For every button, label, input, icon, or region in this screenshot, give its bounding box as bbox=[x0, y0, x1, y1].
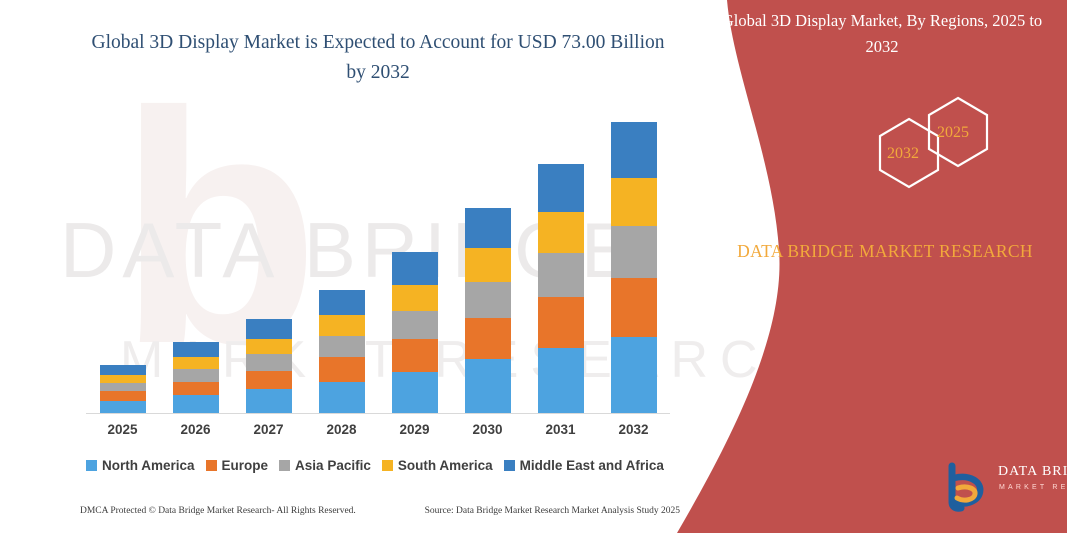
bar-group bbox=[319, 290, 365, 413]
bar-group bbox=[465, 208, 511, 413]
legend-item: South America bbox=[382, 458, 493, 473]
bar-group bbox=[100, 365, 146, 413]
bar-segment bbox=[319, 290, 365, 315]
dbmr-logo-name: DATA BRIDGE bbox=[998, 464, 1067, 480]
x-axis-tick-label: 2027 bbox=[234, 422, 304, 437]
legend-swatch-icon bbox=[206, 460, 217, 471]
bar-segment bbox=[465, 208, 511, 248]
bar-segment bbox=[611, 122, 657, 178]
legend-item: Europe bbox=[206, 458, 269, 473]
bar-segment bbox=[173, 382, 219, 396]
bar-segment bbox=[246, 319, 292, 339]
x-axis-labels: 20252026202720282029203020312032 bbox=[86, 422, 670, 446]
x-axis-tick-label: 2031 bbox=[526, 422, 596, 437]
bar-segment bbox=[319, 315, 365, 336]
chart-area: Global 3D Display Market is Expected to … bbox=[0, 0, 730, 533]
legend-label: Middle East and Africa bbox=[520, 458, 664, 473]
dbmr-logo-sub: MARKET RESEARCH bbox=[999, 484, 1067, 491]
bar-segment bbox=[246, 389, 292, 413]
legend-label: Asia Pacific bbox=[295, 458, 371, 473]
panel-title: Global 3D Display Market, By Regions, 20… bbox=[717, 8, 1047, 60]
bar-segment bbox=[392, 252, 438, 284]
bar-segment bbox=[538, 348, 584, 413]
footer: DMCA Protected © Data Bridge Market Rese… bbox=[80, 506, 680, 516]
legend-label: Europe bbox=[222, 458, 269, 473]
bar-segment bbox=[611, 226, 657, 278]
legend-swatch-icon bbox=[86, 460, 97, 471]
dbmr-logo: DATA BRIDGE MARKET RESEARCH bbox=[942, 462, 1067, 514]
bar-segment bbox=[611, 337, 657, 413]
bar-group bbox=[173, 342, 219, 413]
bar-segment bbox=[392, 311, 438, 339]
bar-segment bbox=[100, 383, 146, 392]
panel-brand-text: DATA BRIDGE MARKET RESEARCH bbox=[735, 237, 1035, 265]
bar-segment bbox=[319, 382, 365, 413]
legend-swatch-icon bbox=[382, 460, 393, 471]
bar-segment bbox=[319, 357, 365, 382]
chart-plot bbox=[86, 110, 670, 414]
bar-segment bbox=[465, 318, 511, 359]
bar-segment bbox=[173, 342, 219, 357]
bar-segment bbox=[538, 164, 584, 212]
bar-segment bbox=[538, 297, 584, 348]
legend-item: Asia Pacific bbox=[279, 458, 371, 473]
legend-swatch-icon bbox=[504, 460, 515, 471]
chart-legend: North AmericaEuropeAsia PacificSouth Ame… bbox=[86, 454, 686, 476]
bar-segment bbox=[100, 375, 146, 383]
x-axis-tick-label: 2028 bbox=[307, 422, 377, 437]
dbmr-logo-icon bbox=[942, 462, 992, 512]
bar-segment bbox=[392, 339, 438, 371]
bar-segment bbox=[611, 278, 657, 337]
footer-left: DMCA Protected © Data Bridge Market Rese… bbox=[80, 506, 356, 516]
bar-segment bbox=[538, 212, 584, 253]
legend-label: North America bbox=[102, 458, 195, 473]
bar-segment bbox=[100, 391, 146, 401]
bar-segment bbox=[173, 357, 219, 369]
hexagon-label-2025: 2025 bbox=[937, 124, 969, 142]
bar-segment bbox=[611, 178, 657, 226]
bar-segment bbox=[173, 369, 219, 382]
bar-segment bbox=[246, 354, 292, 371]
x-axis-tick-label: 2026 bbox=[161, 422, 231, 437]
x-axis-tick-label: 2025 bbox=[88, 422, 158, 437]
legend-item: North America bbox=[86, 458, 195, 473]
bar-group bbox=[246, 319, 292, 413]
bar-segment bbox=[465, 248, 511, 281]
bar-group bbox=[392, 252, 438, 413]
bar-segment bbox=[173, 395, 219, 413]
bar-segment bbox=[392, 285, 438, 311]
legend-label: South America bbox=[398, 458, 493, 473]
bar-segment bbox=[246, 339, 292, 355]
bar-segment bbox=[100, 401, 146, 413]
bar-segment bbox=[392, 372, 438, 413]
bar-segment bbox=[100, 365, 146, 375]
bar-segment bbox=[538, 253, 584, 297]
bar-group bbox=[611, 122, 657, 413]
legend-swatch-icon bbox=[279, 460, 290, 471]
x-axis-tick-label: 2030 bbox=[453, 422, 523, 437]
bar-segment bbox=[465, 282, 511, 318]
footer-right: Source: Data Bridge Market Research Mark… bbox=[425, 506, 680, 516]
hexagon-group: 2032 2025 bbox=[759, 95, 1059, 215]
bar-segment bbox=[465, 359, 511, 413]
bar-segment bbox=[319, 336, 365, 358]
bar-segment bbox=[246, 371, 292, 390]
x-axis-line bbox=[86, 413, 670, 414]
x-axis-tick-label: 2032 bbox=[599, 422, 669, 437]
chart-title: Global 3D Display Market is Expected to … bbox=[80, 28, 676, 88]
bar-group bbox=[538, 164, 584, 413]
legend-item: Middle East and Africa bbox=[504, 458, 664, 473]
x-axis-tick-label: 2029 bbox=[380, 422, 450, 437]
infographic-page: b DATA BRIDGE MARKET RESEARCH Global 3D … bbox=[0, 0, 1067, 533]
hexagon-label-2032: 2032 bbox=[887, 145, 919, 163]
